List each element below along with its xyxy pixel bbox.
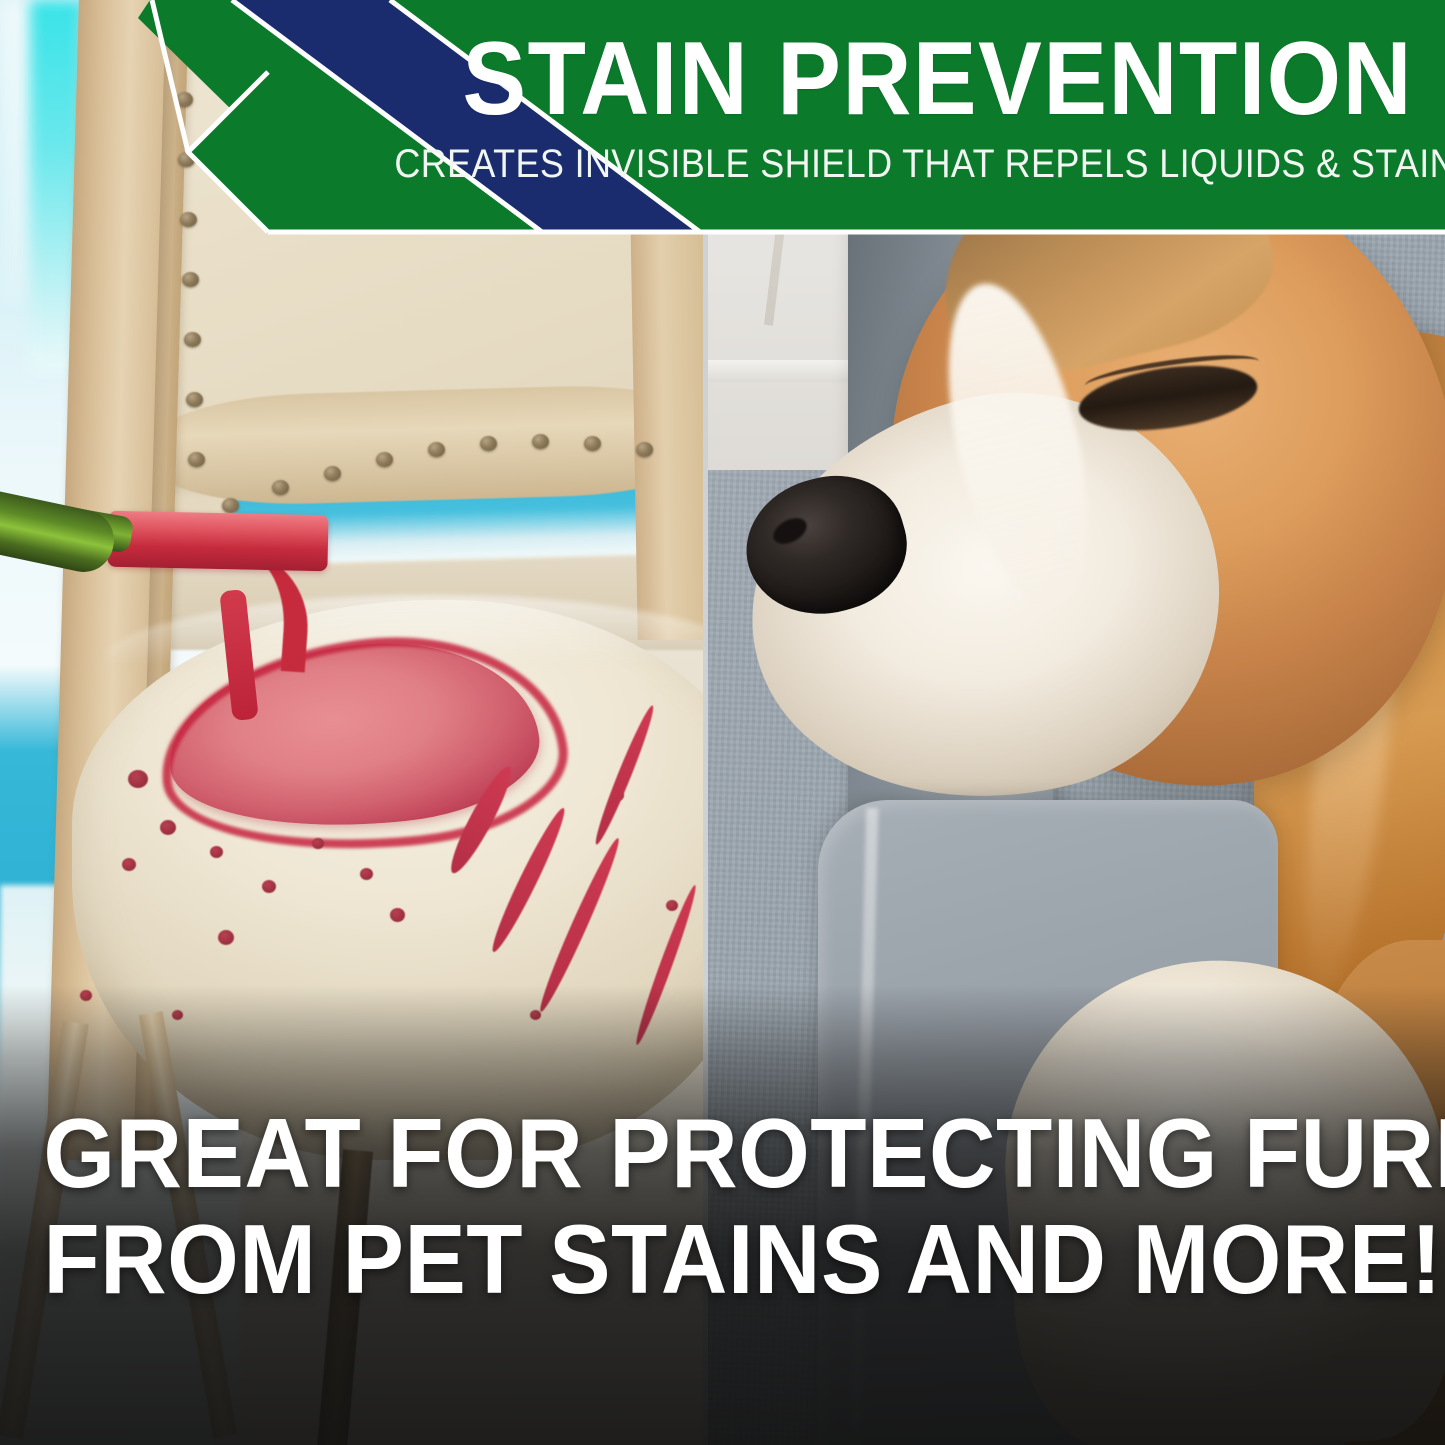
wine-stream <box>107 511 328 572</box>
product-marketing-image: STAIN PREVENTION CREATES INVISIBLE SHIEL… <box>0 0 1445 1445</box>
banner-text-block: STAIN PREVENTION CREATES INVISIBLE SHIEL… <box>430 0 1445 236</box>
top-banner: STAIN PREVENTION CREATES INVISIBLE SHIEL… <box>0 0 1445 250</box>
banner-headline: STAIN PREVENTION <box>462 26 1413 132</box>
banner-subheadline: CREATES INVISIBLE SHIELD THAT REPELS LIQ… <box>394 142 1445 186</box>
